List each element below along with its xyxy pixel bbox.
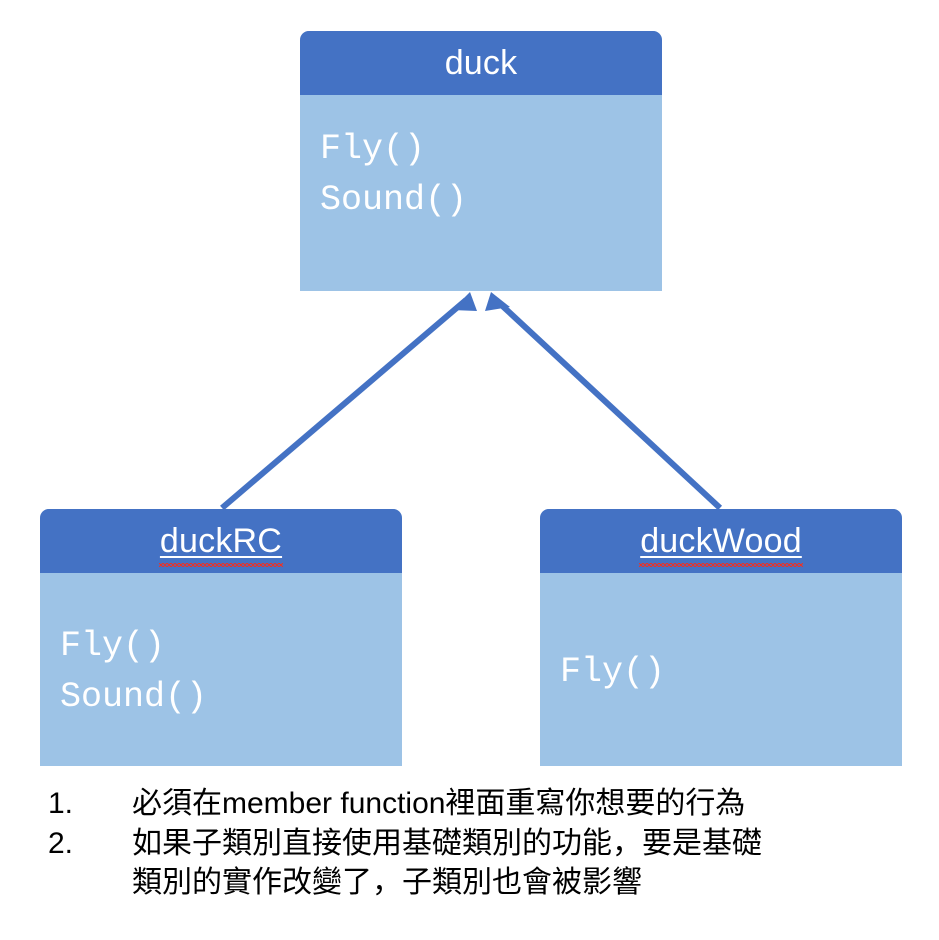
class-title-duckrc: duckRC xyxy=(160,524,282,558)
notes-list: 1. 必須在member function裡面重寫你想要的行為 2. 如果子類別… xyxy=(48,784,918,903)
connector-duckrc-to-duck xyxy=(222,292,477,508)
arrowhead-icon xyxy=(485,292,510,311)
connector-line xyxy=(496,300,720,508)
diagram-canvas: duck Fly() Sound() duckRC Fly() Sound() … xyxy=(0,0,939,940)
method-list-duckrc: Fly() Sound() xyxy=(60,621,207,723)
class-title-duckwood: duckWood xyxy=(640,524,802,558)
note-marker: 2. xyxy=(48,824,132,864)
note-text: 必須在member function裡面重寫你想要的行為 xyxy=(132,784,918,824)
method-item: Fly() xyxy=(560,647,665,698)
class-header-duckwood: duckWood xyxy=(540,509,902,573)
method-list-duck: Fly() Sound() xyxy=(320,124,467,226)
note-item: 1. 必須在member function裡面重寫你想要的行為 xyxy=(48,784,918,824)
class-body-duckrc: Fly() Sound() xyxy=(40,573,402,766)
method-item: Sound() xyxy=(320,175,467,226)
note-item: 2. 如果子類別直接使用基礎類別的功能，要是基礎 類別的實作改變了，子類別也會被… xyxy=(48,824,918,903)
class-box-duckrc[interactable]: duckRC Fly() Sound() xyxy=(40,509,402,766)
arrowhead-icon xyxy=(452,292,477,311)
method-list-duckwood: Fly() xyxy=(560,647,665,698)
method-item: Sound() xyxy=(60,672,207,723)
method-item: Fly() xyxy=(320,124,467,175)
class-body-duck: Fly() Sound() xyxy=(300,95,662,291)
connector-line xyxy=(222,300,466,508)
class-box-duckwood[interactable]: duckWood Fly() xyxy=(540,509,902,766)
connector-duckwood-to-duck xyxy=(485,292,720,508)
class-box-duck[interactable]: duck Fly() Sound() xyxy=(300,31,662,291)
class-header-duck: duck xyxy=(300,31,662,95)
method-item: Fly() xyxy=(60,621,207,672)
class-header-duckrc: duckRC xyxy=(40,509,402,573)
note-marker: 1. xyxy=(48,784,132,824)
note-text: 如果子類別直接使用基礎類別的功能，要是基礎 類別的實作改變了，子類別也會被影響 xyxy=(132,824,918,903)
class-body-duckwood: Fly() xyxy=(540,573,902,766)
class-title-duck: duck xyxy=(445,46,518,80)
